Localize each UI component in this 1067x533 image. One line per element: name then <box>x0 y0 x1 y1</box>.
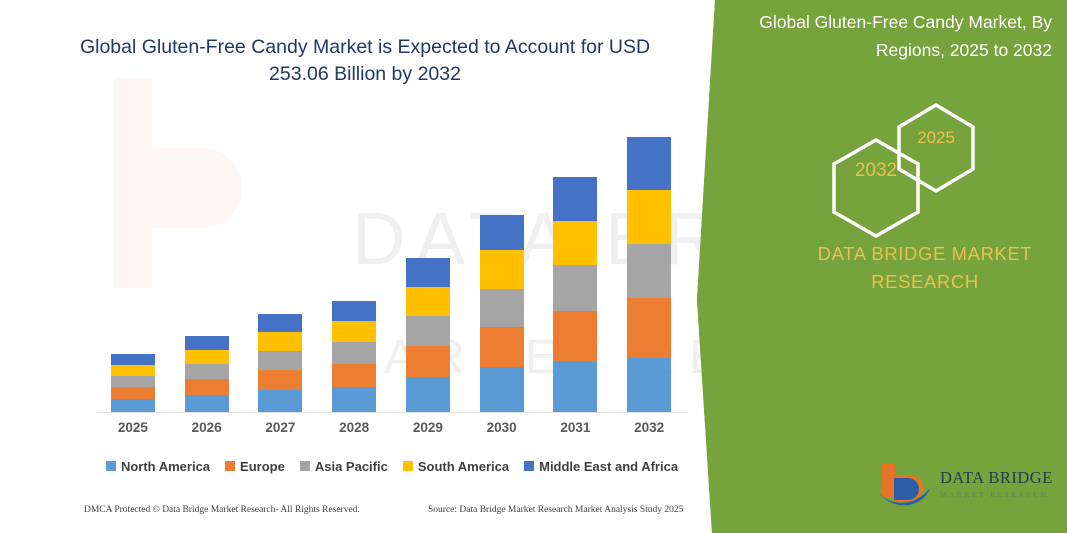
x-axis-label-2025: 2025 <box>103 420 163 435</box>
legend-swatch-icon <box>225 461 235 471</box>
bar-segment[interactable] <box>406 287 450 316</box>
bar-segment[interactable] <box>553 311 597 361</box>
bar-segment[interactable] <box>332 387 376 413</box>
bar-segment[interactable] <box>258 332 302 351</box>
bar-segment[interactable] <box>553 361 597 413</box>
bar-segment[interactable] <box>185 395 229 413</box>
hexagon-2032-label: 2032 <box>838 160 914 182</box>
bar-segment[interactable] <box>406 316 450 346</box>
bar-segment[interactable] <box>258 370 302 390</box>
x-axis-label-2028: 2028 <box>324 420 384 435</box>
x-axis-label-2029: 2029 <box>398 420 458 435</box>
chart-legend: North AmericaEuropeAsia PacificSouth Ame… <box>96 455 688 477</box>
bar-2031[interactable] <box>553 177 597 413</box>
legend-item-europe[interactable]: Europe <box>225 459 285 474</box>
bar-segment[interactable] <box>111 365 155 376</box>
legend-item-south-america[interactable]: South America <box>403 459 509 474</box>
dbmr-logo-text: DATA BRIDGE MARKET RESEARCH <box>940 468 1067 499</box>
dbmr-tagline: DATA BRIDGE MARKET RESEARCH <box>800 240 1050 296</box>
legend-item-asia-pacific[interactable]: Asia Pacific <box>300 459 388 474</box>
bar-2029[interactable] <box>406 258 450 413</box>
bar-2026[interactable] <box>185 336 229 413</box>
x-axis-label-2031: 2031 <box>545 420 605 435</box>
legend-label: Middle East and Africa <box>539 459 678 474</box>
bar-segment[interactable] <box>406 377 450 413</box>
bar-2025[interactable] <box>111 354 155 413</box>
x-axis-label-2026: 2026 <box>177 420 237 435</box>
bar-segment[interactable] <box>627 298 671 358</box>
bar-segment[interactable] <box>111 387 155 399</box>
x-axis-label-2027: 2027 <box>250 420 310 435</box>
bar-segment[interactable] <box>258 314 302 332</box>
bar-segment[interactable] <box>553 177 597 221</box>
bar-segment[interactable] <box>480 367 524 413</box>
legend-swatch-icon <box>300 461 310 471</box>
bar-segment[interactable] <box>553 265 597 310</box>
bar-segment[interactable] <box>480 289 524 327</box>
bar-2030[interactable] <box>480 215 524 413</box>
dbmr-logo-icon <box>876 462 936 510</box>
bar-segment[interactable] <box>553 221 597 265</box>
bar-segment[interactable] <box>258 390 302 413</box>
chart-title: Global Gluten-Free Candy Market is Expec… <box>60 34 670 88</box>
bar-segment[interactable] <box>406 346 450 377</box>
legend-label: South America <box>418 459 509 474</box>
x-axis-label-2032: 2032 <box>619 420 679 435</box>
legend-swatch-icon <box>524 461 534 471</box>
bar-segment[interactable] <box>627 190 671 244</box>
legend-label: Europe <box>240 459 285 474</box>
x-axis-label-2030: 2030 <box>472 420 532 435</box>
x-axis-labels: 20252026202720282029203020312032 <box>96 420 686 442</box>
bar-2028[interactable] <box>332 301 376 413</box>
chart-panel: DATA BRIDGE MARKET RESEARCH Global Glute… <box>0 0 720 533</box>
bar-segment[interactable] <box>332 321 376 342</box>
bar-2027[interactable] <box>258 314 302 413</box>
footer-copyright: DMCA Protected © Data Bridge Market Rese… <box>84 505 360 515</box>
plot-area <box>96 110 686 413</box>
bar-segment[interactable] <box>406 258 450 286</box>
axis-baseline <box>96 412 688 413</box>
bar-segment[interactable] <box>480 215 524 250</box>
bar-segment[interactable] <box>185 379 229 395</box>
legend-swatch-icon <box>106 461 116 471</box>
legend-label: Asia Pacific <box>315 459 388 474</box>
bar-segment[interactable] <box>480 327 524 367</box>
bar-segment[interactable] <box>111 399 155 413</box>
legend-label: North America <box>121 459 210 474</box>
legend-swatch-icon <box>403 461 413 471</box>
infographic-root: DATA BRIDGE MARKET RESEARCH Global Glute… <box>0 0 1067 533</box>
bar-segment[interactable] <box>185 350 229 364</box>
bar-segment[interactable] <box>258 351 302 370</box>
bar-segment[interactable] <box>332 342 376 364</box>
legend-item-middle-east-and-africa[interactable]: Middle East and Africa <box>524 459 678 474</box>
dbmr-logo-sub: MARKET RESEARCH <box>940 490 1067 499</box>
hexagon-2025-label: 2025 <box>903 128 969 148</box>
dbmr-logo-name: DATA BRIDGE <box>940 468 1067 488</box>
bar-segment[interactable] <box>627 358 671 413</box>
bar-segment[interactable] <box>627 137 671 190</box>
bar-segment[interactable] <box>111 354 155 365</box>
legend-item-north-america[interactable]: North America <box>106 459 210 474</box>
bar-segment[interactable] <box>332 301 376 321</box>
footer-source: Source: Data Bridge Market Research Mark… <box>428 505 683 515</box>
bar-2032[interactable] <box>627 137 671 413</box>
bar-segment[interactable] <box>185 336 229 350</box>
bar-segment[interactable] <box>480 250 524 288</box>
right-panel-title: Global Gluten-Free Candy Market, By Regi… <box>742 8 1052 64</box>
bar-segment[interactable] <box>111 376 155 387</box>
footer: DMCA Protected © Data Bridge Market Rese… <box>0 505 700 525</box>
bar-segment[interactable] <box>627 244 671 297</box>
bar-segment[interactable] <box>185 364 229 379</box>
bar-segment[interactable] <box>332 364 376 387</box>
